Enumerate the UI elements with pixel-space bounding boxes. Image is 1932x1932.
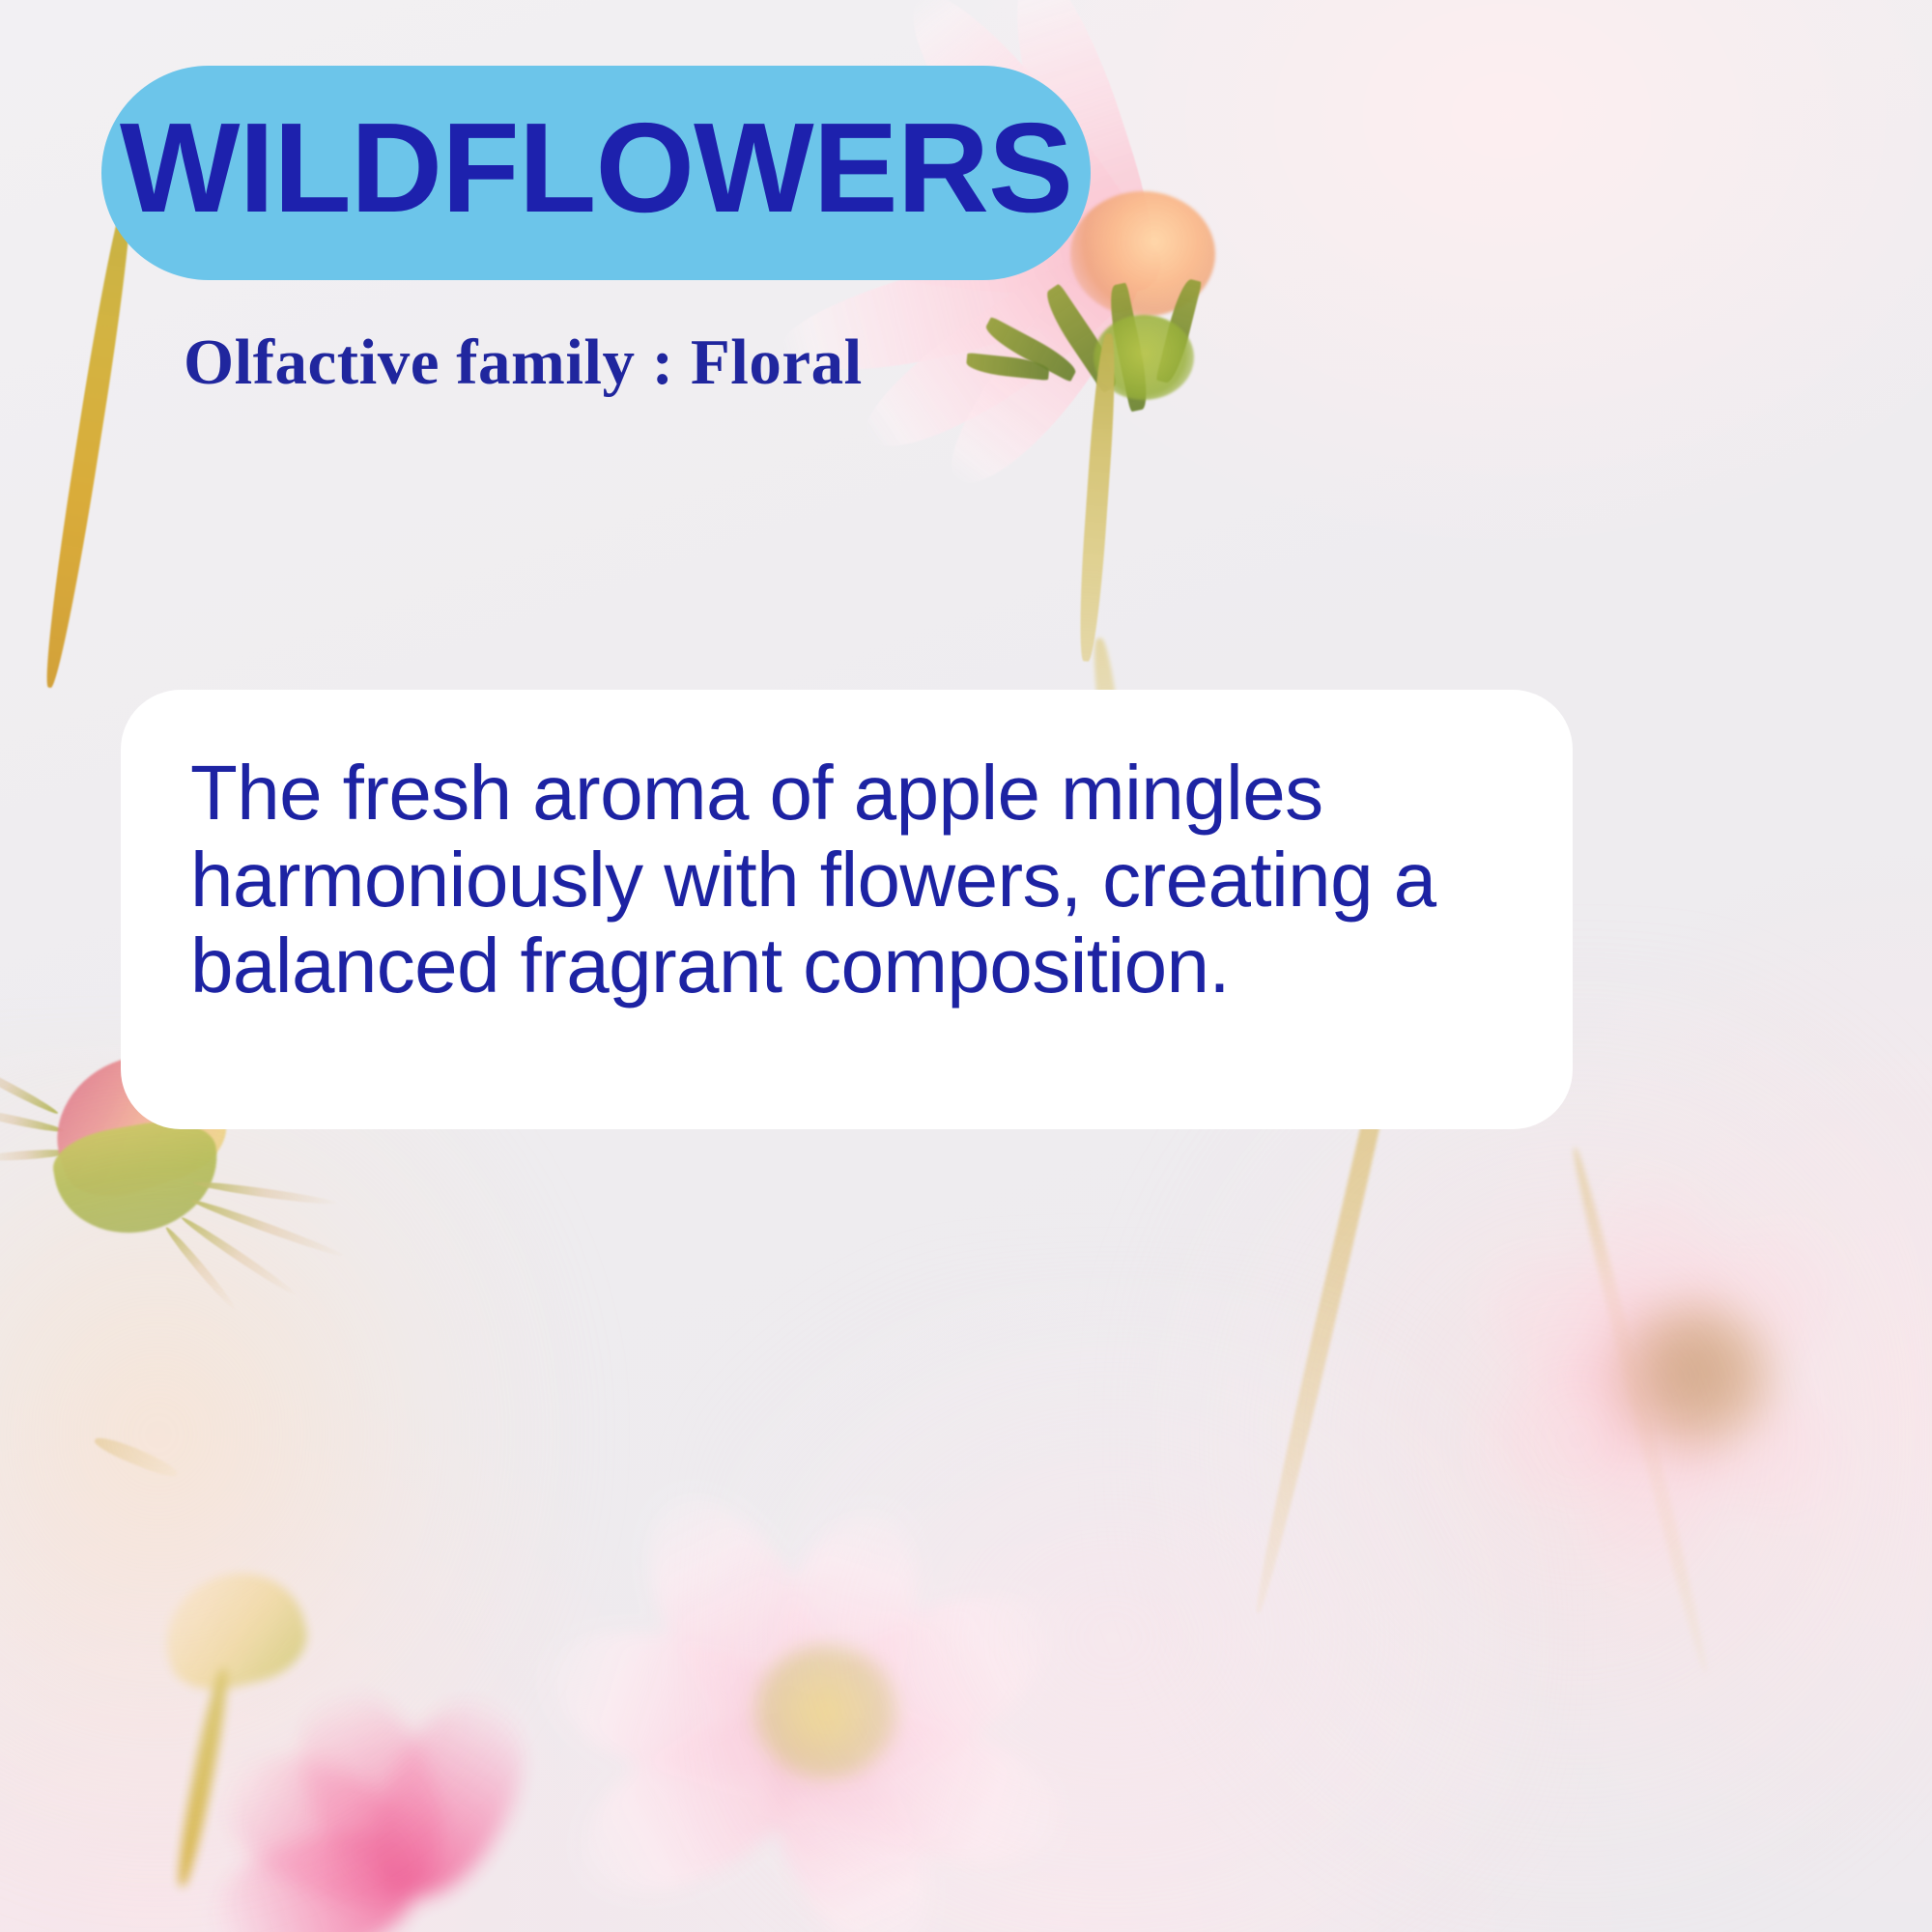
content-overlay: WILDFLOWERS Olfactive family : Floral Th…	[0, 0, 1932, 1932]
olfactive-family-subtitle: Olfactive family : Floral	[184, 326, 863, 400]
title-badge: WILDFLOWERS	[101, 66, 1091, 280]
description-text: The fresh aroma of apple mingles harmoni…	[190, 750, 1505, 1009]
description-card: The fresh aroma of apple mingles harmoni…	[121, 690, 1573, 1129]
poster-canvas: WILDFLOWERS Olfactive family : Floral Th…	[0, 0, 1932, 1932]
page-title: WILDFLOWERS	[120, 104, 1072, 232]
